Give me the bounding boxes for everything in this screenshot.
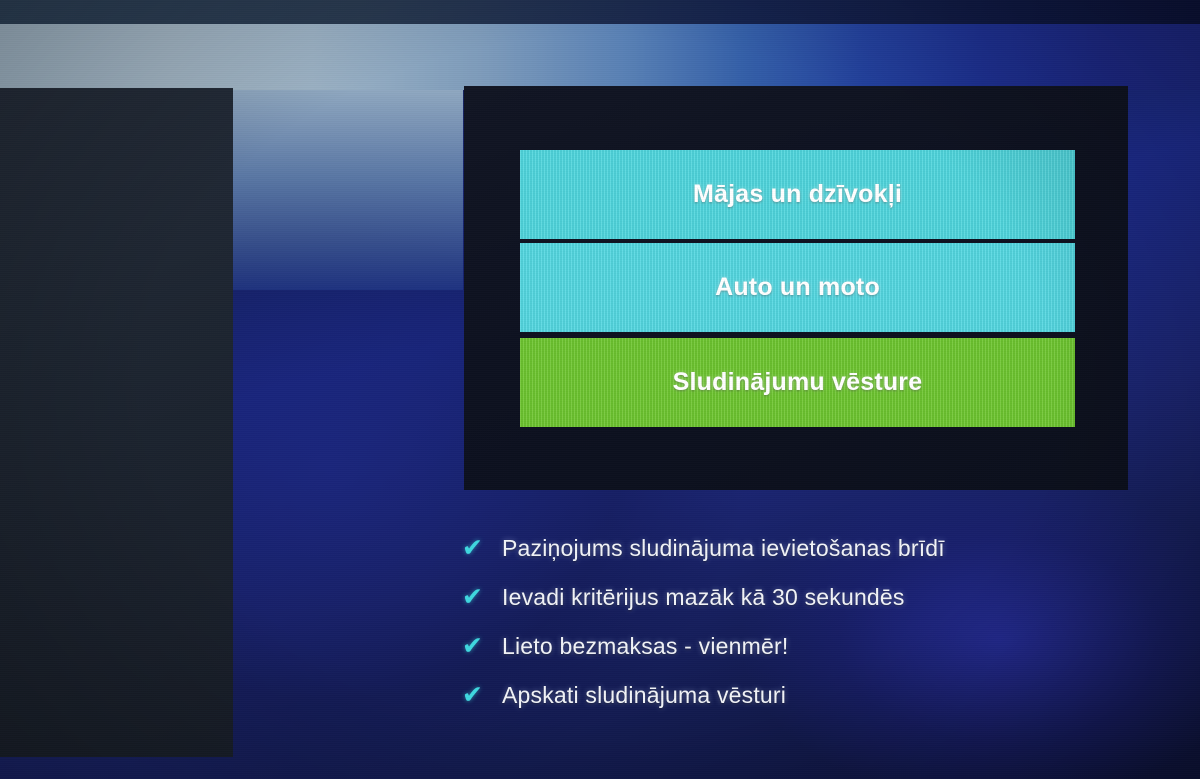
- category-button-sludinajumu-vesture[interactable]: Sludinājumu vēsture: [520, 338, 1075, 427]
- check-icon: ✔: [462, 634, 502, 659]
- category-button-majas-un-dzivokli[interactable]: Mājas un dzīvokļi: [520, 150, 1075, 239]
- screen-photo-frame: HD You Tube Mājas un dzīvokļi Auto un mo…: [0, 0, 1200, 779]
- benefit-text: Lieto bezmaksas - vienmēr!: [502, 633, 788, 660]
- video-player-panel: HD You Tube: [0, 88, 233, 757]
- list-item: ✔ Paziņojums sludinājuma ievietošanas br…: [462, 524, 1062, 573]
- category-button-label: Sludinājumu vēsture: [673, 368, 923, 397]
- desktop-top-band: [0, 24, 1200, 90]
- category-menu-card: Mājas un dzīvokļi Auto un moto Sludināju…: [464, 86, 1128, 490]
- benefits-checklist: ✔ Paziņojums sludinājuma ievietošanas br…: [462, 524, 1062, 720]
- category-button-label: Mājas un dzīvokļi: [693, 180, 902, 209]
- check-icon: ✔: [462, 585, 502, 610]
- desktop-left-wash: [233, 90, 463, 290]
- list-item: ✔ Apskati sludinājuma vēsturi: [462, 671, 1062, 720]
- list-item: ✔ Ievadi kritērijus mazāk kā 30 sekundēs: [462, 573, 1062, 622]
- list-item: ✔ Lieto bezmaksas - vienmēr!: [462, 622, 1062, 671]
- benefit-text: Paziņojums sludinājuma ievietošanas brīd…: [502, 535, 945, 562]
- check-icon: ✔: [462, 536, 502, 561]
- top-edge-strip: [0, 0, 1200, 25]
- benefit-text: Apskati sludinājuma vēsturi: [502, 682, 786, 709]
- category-button-auto-un-moto[interactable]: Auto un moto: [520, 243, 1075, 332]
- category-button-label: Auto un moto: [715, 273, 880, 302]
- check-icon: ✔: [462, 683, 502, 708]
- benefit-text: Ievadi kritērijus mazāk kā 30 sekundēs: [502, 584, 905, 611]
